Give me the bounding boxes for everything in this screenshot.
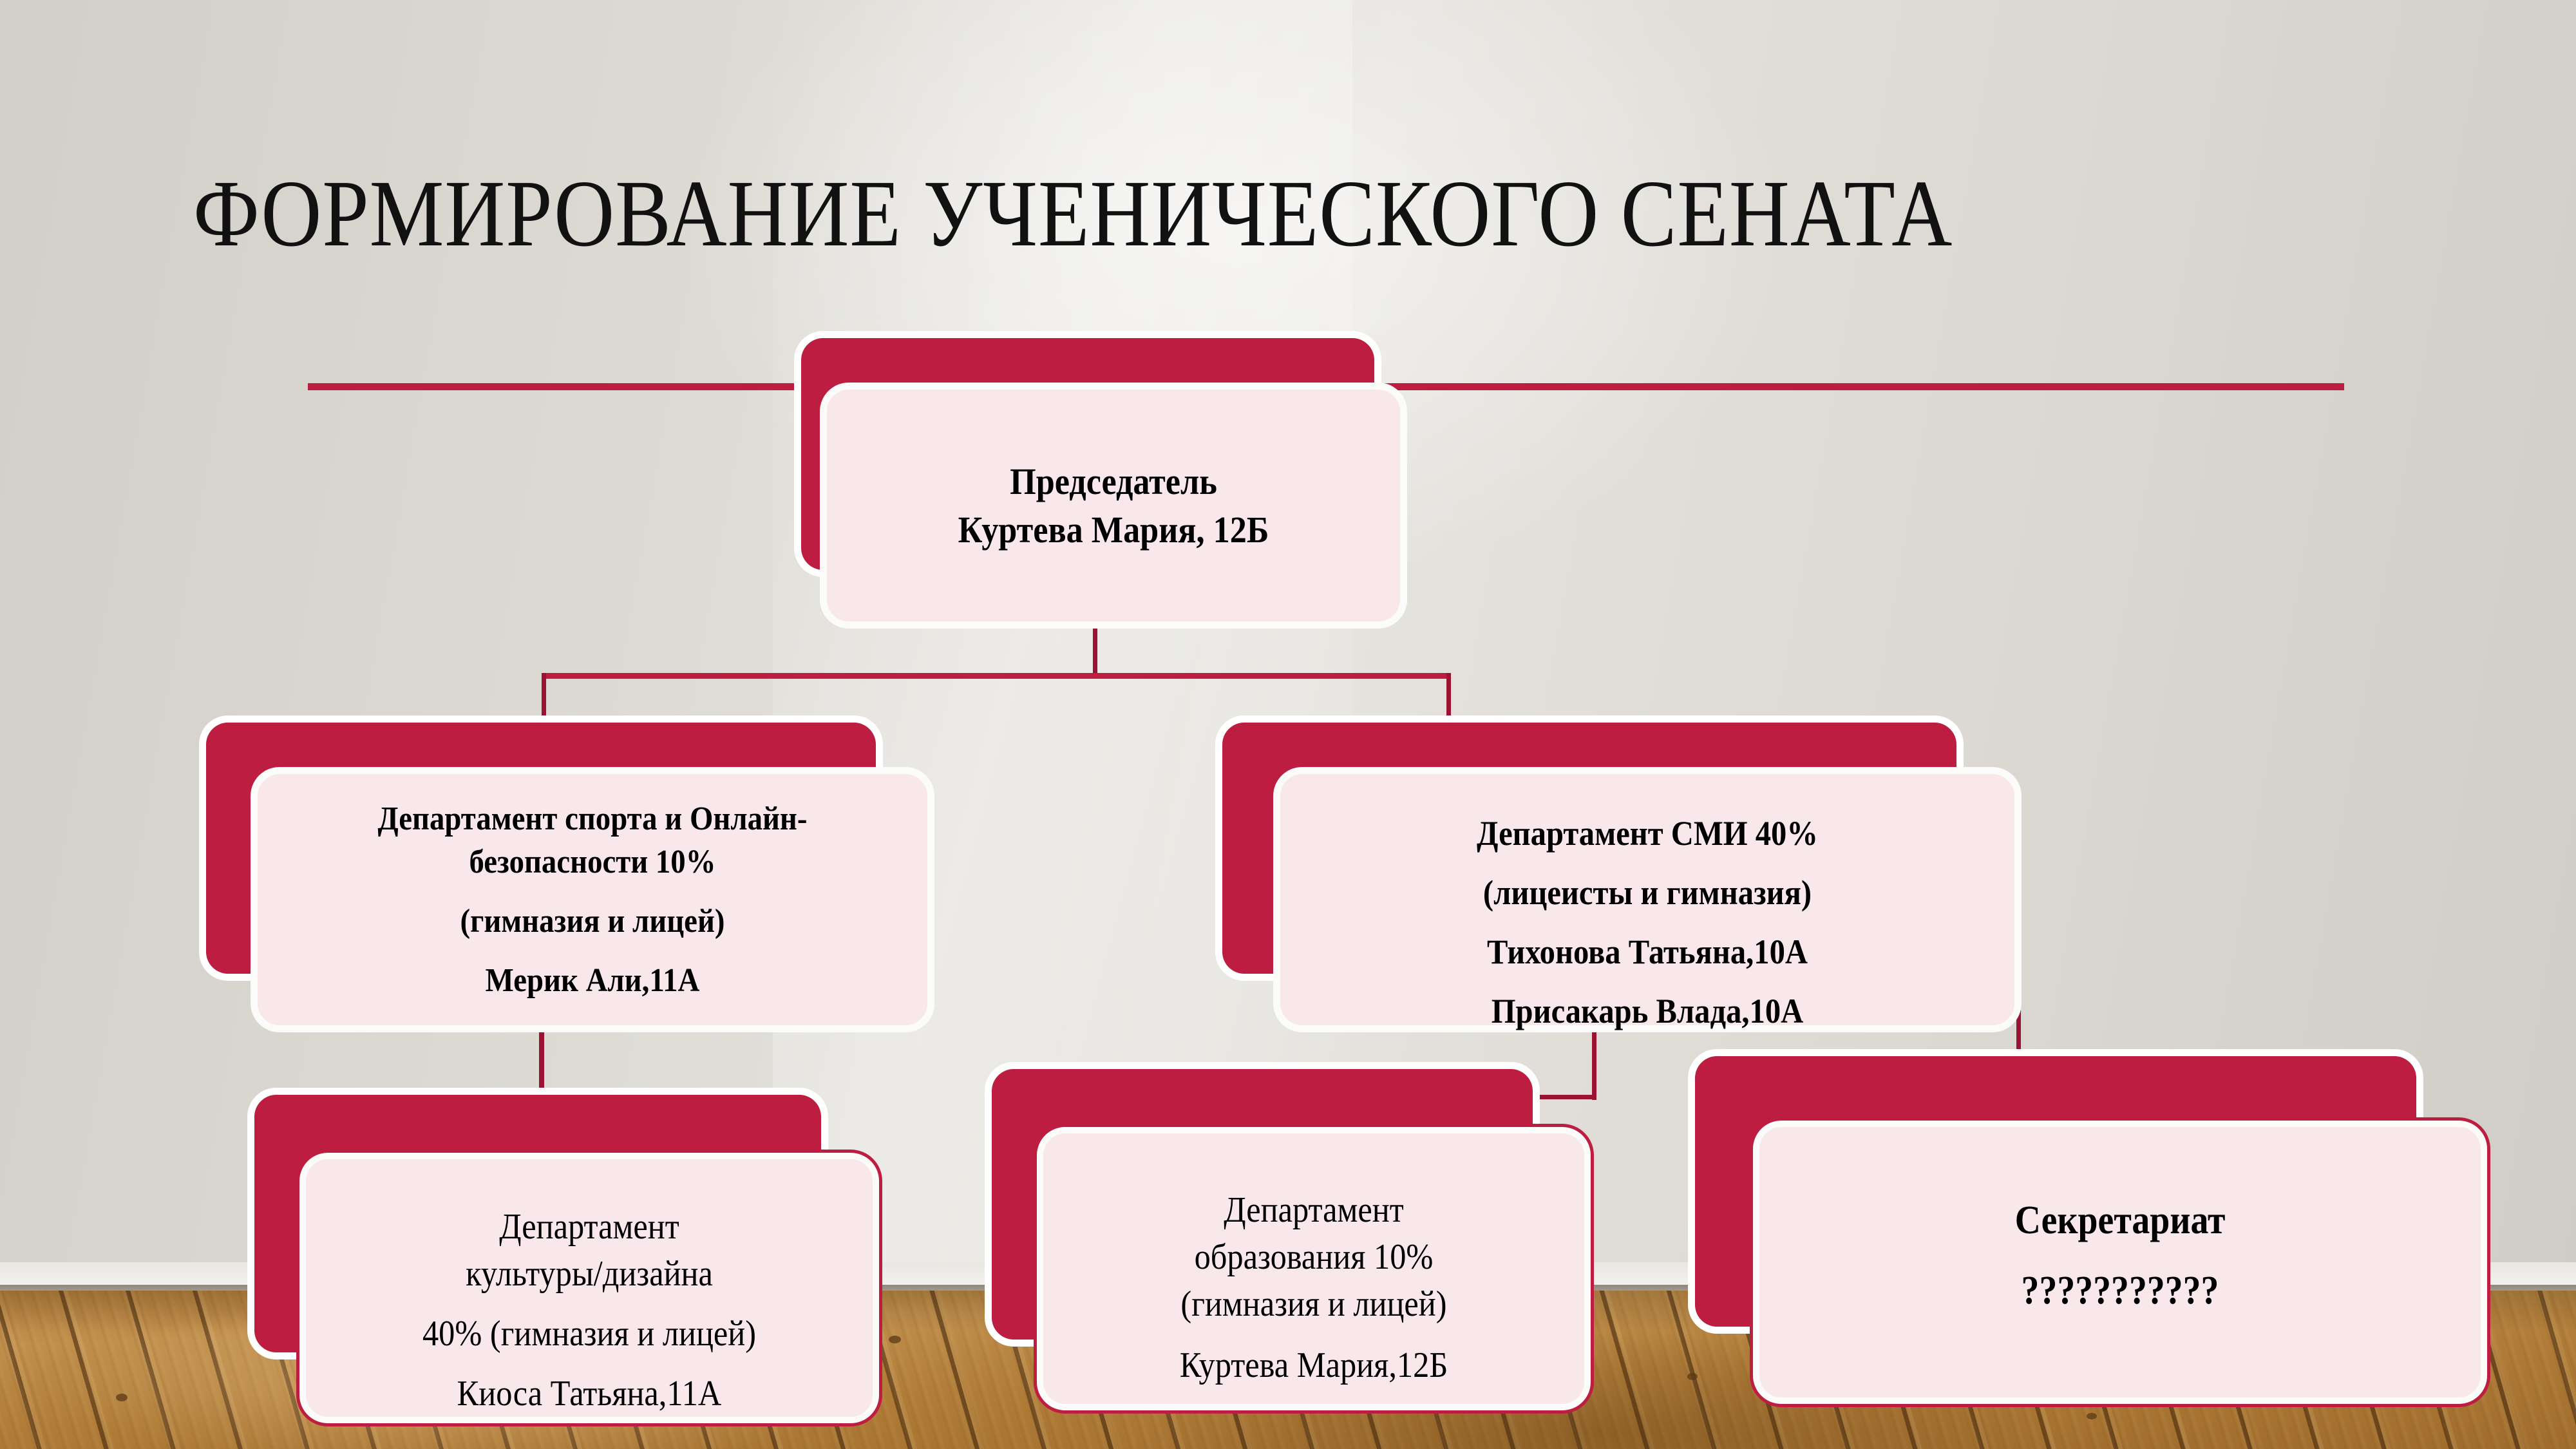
node-chairman-text: Председатель Куртева Мария, 12Б xyxy=(856,390,1372,621)
node-chairman-line-1: Куртева Мария, 12Б xyxy=(958,506,1269,554)
node-secretariat-text: Секретариат ??????????? xyxy=(1795,1127,2445,1385)
node-department-culture-text: Департамент культуры/дизайна 40% (гимназ… xyxy=(323,1159,856,1449)
node-department-sport[interactable]: Департамент спорта и Онлайн- безопасност… xyxy=(206,723,927,1025)
node-department-education-text: Департамент образования 10% (гимназия и … xyxy=(1053,1133,1575,1443)
node-department-education-line-0: Департамент xyxy=(1224,1187,1404,1234)
node-department-education[interactable]: Департамент образования 10% (гимназия и … xyxy=(992,1069,1584,1443)
node-department-sport-line-1: безопасности 10% xyxy=(469,840,715,884)
node-department-culture[interactable]: Департамент культуры/дизайна 40% (гимназ… xyxy=(254,1095,898,1449)
node-department-sport-line-2: (гимназия и лицей) xyxy=(460,900,724,943)
node-secretariat[interactable]: Секретариат ??????????? xyxy=(1695,1056,2494,1430)
edge-chairman-stem xyxy=(1093,618,1097,676)
node-chairman-line-0: Председатель xyxy=(1010,457,1217,506)
node-secretariat-line-0: Секретариат xyxy=(2015,1195,2226,1247)
node-department-smi[interactable]: Департамент СМИ 40% (лицеисты и гимназия… xyxy=(1222,723,2014,1045)
edge-level1-bus xyxy=(542,673,1451,679)
node-department-smi-line-2: Тихонова Татьяна,10А xyxy=(1487,929,1808,974)
node-department-education-line-2: (гимназия и лицей) xyxy=(1180,1281,1446,1328)
node-department-culture-line-0: Департамент xyxy=(499,1204,679,1251)
node-department-smi-line-3: Присакарь Влада,10А xyxy=(1492,989,1803,1034)
floor-knot xyxy=(116,1394,128,1401)
node-department-education-line-1: образования 10% xyxy=(1195,1234,1434,1281)
edge-sport-to-culture xyxy=(539,1016,544,1096)
slide-canvas: ФОРМИРОВАНИЕ УЧЕНИЧЕСКОГО СЕНАТА Председ… xyxy=(0,0,2576,1449)
node-department-culture-line-2: 40% (гимназия и лицей) xyxy=(422,1311,756,1358)
node-secretariat-line-1: ??????????? xyxy=(2022,1265,2219,1317)
node-department-smi-line-1: (лицеисты и гимназия) xyxy=(1483,870,1812,915)
node-department-sport-line-3: Мерик Али,11А xyxy=(486,959,700,1003)
node-department-culture-line-1: культуры/дизайна xyxy=(466,1251,713,1298)
node-department-smi-text: Департамент СМИ 40% (лицеисты и гимназия… xyxy=(1317,774,1978,1070)
node-department-education-line-3: Куртева Мария,12Б xyxy=(1180,1342,1448,1389)
page-title: ФОРМИРОВАНИЕ УЧЕНИЧЕСКОГО СЕНАТА xyxy=(193,164,2120,264)
node-chairman[interactable]: Председатель Куртева Мария, 12Б xyxy=(801,338,1400,621)
node-department-culture-line-3: Киоса Татьяна,11А xyxy=(457,1370,722,1417)
node-department-smi-line-0: Департамент СМИ 40% xyxy=(1477,811,1818,856)
node-department-sport-line-0: Департамент спорта и Онлайн- xyxy=(377,797,807,841)
node-department-sport-text: Департамент спорта и Онлайн- безопасност… xyxy=(291,774,894,1025)
